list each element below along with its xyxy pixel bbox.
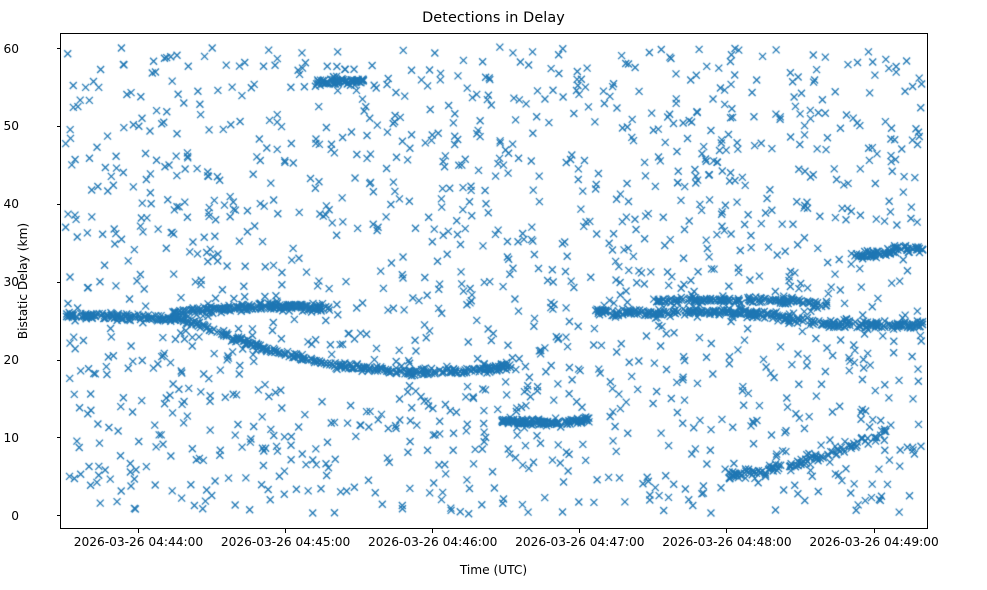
x-axis-label: Time (UTC) bbox=[0, 563, 987, 577]
x-tick-mark bbox=[874, 529, 875, 533]
y-axis-label: Bistatic Delay (km) bbox=[14, 33, 32, 529]
figure-canvas: Detections in Delay 2026-03-26 04:44:002… bbox=[0, 0, 987, 590]
x-tick-label: 2026-03-26 04:48:00 bbox=[662, 535, 791, 549]
x-tick-label: 2026-03-26 04:45:00 bbox=[221, 535, 350, 549]
x-tick-mark bbox=[726, 529, 727, 533]
x-tick-label: 2026-03-26 04:44:00 bbox=[74, 535, 203, 549]
scatter-plot-canvas bbox=[61, 34, 927, 528]
y-tick-mark bbox=[57, 437, 61, 438]
chart-title: Detections in Delay bbox=[0, 10, 987, 26]
y-tick-mark bbox=[57, 360, 61, 361]
x-tick-label: 2026-03-26 04:46:00 bbox=[368, 535, 497, 549]
y-tick-mark bbox=[57, 48, 61, 49]
plot-axes bbox=[60, 33, 928, 529]
x-tick-mark bbox=[579, 529, 580, 533]
y-tick-mark bbox=[57, 126, 61, 127]
x-tick-label: 2026-03-26 04:47:00 bbox=[515, 535, 644, 549]
x-tick-mark bbox=[285, 529, 286, 533]
y-tick-mark bbox=[57, 204, 61, 205]
y-tick-mark bbox=[57, 282, 61, 283]
x-tick-mark bbox=[138, 529, 139, 533]
y-tick-mark bbox=[57, 515, 61, 516]
x-tick-mark bbox=[432, 529, 433, 533]
x-tick-label: 2026-03-26 04:49:00 bbox=[809, 535, 938, 549]
